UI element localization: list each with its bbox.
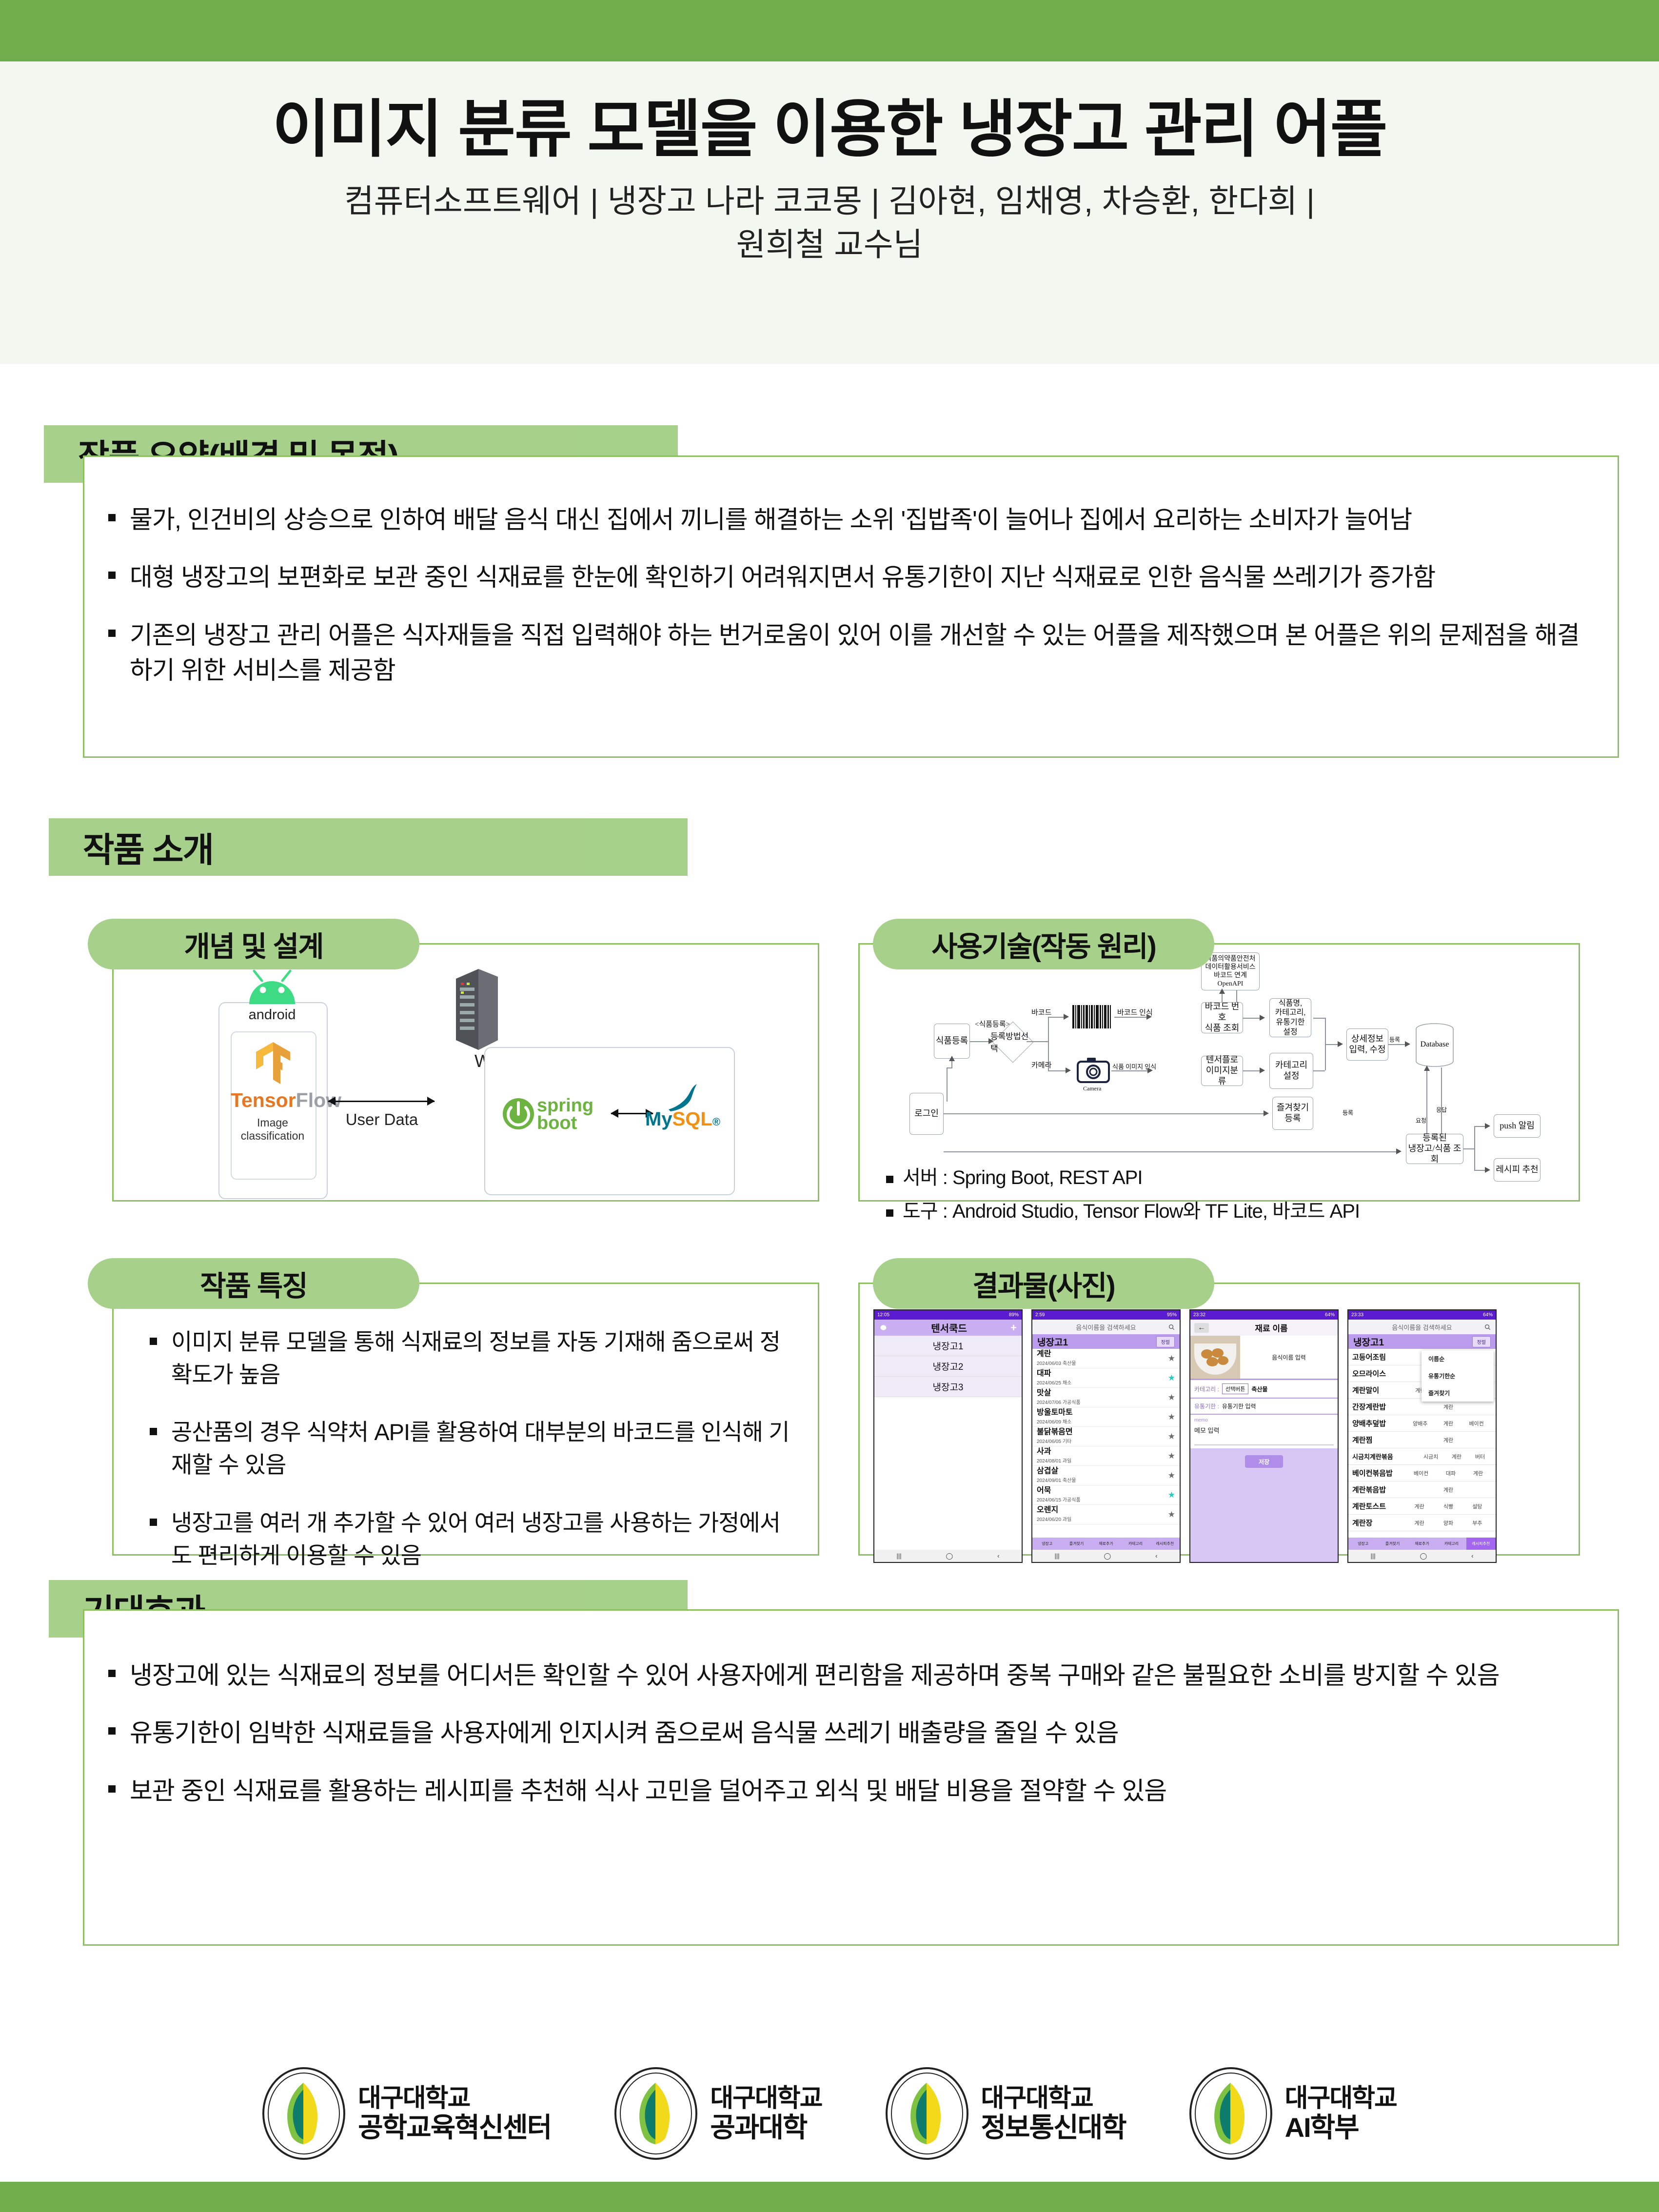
pill-features: 작품 특징 xyxy=(88,1258,419,1309)
logo-caption: 대구대학교 공과대학 xyxy=(710,2084,822,2143)
food-name: 대파 xyxy=(1037,1370,1071,1378)
android-robot-icon xyxy=(240,968,304,1006)
pill-concept: 개념 및 설계 xyxy=(88,919,419,969)
expiry-label: 유통기한 : xyxy=(1194,1402,1219,1410)
back-icon[interactable]: ‹ xyxy=(1155,1552,1157,1560)
ingredient: 계란 xyxy=(1415,1519,1424,1527)
dropdown-item-favorites[interactable]: 즐겨찾기 xyxy=(1422,1384,1494,1402)
architecture-diagram: android TensorFlow Image classification … xyxy=(114,945,821,1203)
category-row: 카테고리 : 선택버튼 축산물 xyxy=(1190,1380,1338,1399)
ingredient: 설탕 xyxy=(1472,1502,1482,1510)
recipe-item[interactable]: 베이컨볶음밥베이컨대파계란 xyxy=(1348,1465,1496,1481)
search-placeholder: 음식이름을 검색하세요 xyxy=(1076,1323,1136,1332)
food-name: 어묵 xyxy=(1037,1487,1081,1495)
flow-node-database: Database xyxy=(1414,1023,1456,1067)
tflite-line-2: 이미지분류 xyxy=(1203,1066,1242,1087)
logo-caption: 대구대학교 정보통신대학 xyxy=(981,2084,1126,2143)
user-data-arrow xyxy=(328,1101,434,1102)
features-heading: 작품 특징 xyxy=(200,1263,307,1304)
flow-edge-register-to-select xyxy=(970,1041,990,1042)
food-date: 2024/06/25 xyxy=(1037,1381,1061,1386)
food-photo xyxy=(1190,1336,1240,1379)
recipe-ingredients: 베이컨대파계란 xyxy=(1405,1469,1492,1477)
results-heading: 결과물(사진) xyxy=(972,1263,1114,1304)
status-time: 12:05 xyxy=(877,1312,889,1318)
system-nav-bar: ||| ◯ ‹ xyxy=(1348,1550,1496,1562)
status-time: 23:32 xyxy=(1193,1312,1205,1318)
food-category: 기타 xyxy=(1063,1439,1071,1444)
sort-button[interactable]: 정렬 xyxy=(1472,1336,1491,1347)
status-battery: 95% xyxy=(1167,1312,1177,1318)
recipe-ingredients: 계란 xyxy=(1405,1486,1492,1494)
food-category: 가공식품 xyxy=(1063,1498,1081,1503)
sort-button[interactable]: 정렬 xyxy=(1156,1336,1175,1347)
ingredient: 계란 xyxy=(1443,1420,1453,1427)
food-category: 채소 xyxy=(1063,1420,1071,1425)
food-item[interactable]: 오렌지2024/06/20 과일★ xyxy=(1032,1505,1180,1524)
ingredient: 계란 xyxy=(1452,1453,1461,1461)
gear-icon[interactable] xyxy=(879,1323,888,1332)
food-name-placeholder: 음식이름 입력 xyxy=(1272,1353,1306,1362)
nav-tab-recipe[interactable]: 레시피추천 xyxy=(1466,1538,1496,1550)
ingredient: 시금치 xyxy=(1423,1453,1438,1461)
daegu-university-seal-icon xyxy=(886,2067,968,2160)
food-category: 과일 xyxy=(1063,1517,1071,1522)
flow-edge-detail-to-db xyxy=(1388,1044,1407,1045)
features-bullet-1: 이미지 분류 모델을 통해 식재료의 정보를 자동 기재해 줌으로써 정확도가 … xyxy=(143,1326,791,1391)
system-flowchart: 식품의약품안전처 데이터활용서비스 바코드 연계 OpenAPI 식품등록 <식… xyxy=(860,945,1581,1149)
ingredient: 버터 xyxy=(1475,1453,1485,1461)
mysql-wordmark: MySQL® xyxy=(645,1108,720,1130)
food-item[interactable]: 방울토마토2024/06/09 채소★ xyxy=(1032,1407,1180,1427)
app-bar: 텐서쿡드 + xyxy=(874,1320,1022,1336)
ingredient: 양파 xyxy=(1443,1519,1453,1527)
flow-label-camera-path: 카메라 xyxy=(1031,1060,1051,1070)
flow-edge-login-to-favorite xyxy=(944,1113,1265,1114)
phone-screenshot-detail: 23:32 64% ← 재료 이름 음식이름 입력 xyxy=(1189,1309,1339,1563)
expected-bullet-3: 보관 중인 식재료를 활용하는 레시피를 추천해 식사 고민을 덜어주고 외식 … xyxy=(101,1774,1594,1809)
barcode-lookup-line-1: 바코드 번호 xyxy=(1203,1002,1242,1023)
detail-line-2: 입력, 수정 xyxy=(1349,1045,1385,1055)
home-icon[interactable]: ◯ xyxy=(946,1552,953,1560)
food-name-input[interactable]: 음식이름 입력 xyxy=(1240,1336,1338,1379)
logo-unit-ai-department: 대구대학교 AI학부 xyxy=(1189,2067,1397,2160)
results-panel: 12:05 89% 텐서쿡드 + 냉장고1 냉장고2 냉장고3 ||| ◯ ‹ xyxy=(858,1283,1580,1556)
fridge-item-2[interactable]: 냉장고2 xyxy=(874,1356,1022,1377)
category-select-button[interactable]: 선택버튼 xyxy=(1222,1383,1248,1394)
food-name: 불닭볶음면 xyxy=(1037,1428,1073,1437)
features-bullet-2: 공산품의 경우 식약처 API를 활용하여 대부분의 바코드를 인식해 기재할 … xyxy=(143,1416,791,1481)
flow-arrow-db-request xyxy=(1424,1066,1430,1071)
recipe-name: 계란장 xyxy=(1352,1518,1405,1528)
recipe-item[interactable]: 계란볶음밥계란 xyxy=(1348,1481,1496,1498)
recipe-name: 계란찜 xyxy=(1352,1435,1405,1445)
favorite-star-icon[interactable]: ★ xyxy=(1168,1510,1175,1520)
food-category: 과일 xyxy=(1063,1459,1071,1464)
status-bar: 12:05 89% xyxy=(874,1310,1022,1320)
setting-line-3: 유통기한 xyxy=(1276,1018,1305,1027)
food-item[interactable]: 사과2024/08/01 과일★ xyxy=(1032,1446,1180,1466)
nav-tab-add[interactable]: 재료추가 xyxy=(1091,1541,1121,1546)
flow-label-request: 요청 xyxy=(1416,1116,1426,1125)
egg-shape xyxy=(1218,1356,1228,1365)
summary-bullet-1: 물가, 인건비의 상승으로 인하여 배달 음식 대신 집에서 끼니를 해결하는 … xyxy=(101,502,1584,537)
flow-arrow-image-recognize xyxy=(1147,1067,1153,1073)
flow-edge-login-up-vert xyxy=(947,1067,948,1102)
flow-edge-to-camera xyxy=(1048,1070,1067,1071)
server-rack-icon xyxy=(450,968,504,1051)
favorite-star-icon[interactable]: ★ xyxy=(1168,1490,1175,1500)
flow-node-login: 로그인 xyxy=(909,1093,944,1135)
expected-bullet-1: 냉장고에 있는 식재료의 정보를 어디서든 확인할 수 있어 사용자에게 편리함… xyxy=(101,1658,1594,1693)
recipe-item[interactable]: 계란장계란양파부추 xyxy=(1348,1515,1496,1531)
flow-label-response: 응답 xyxy=(1436,1106,1447,1114)
nav-tab-recipe[interactable]: 레시피추천 xyxy=(1150,1541,1180,1546)
tensorflow-tensor-text: Tensor xyxy=(231,1089,296,1111)
nav-tab-add[interactable]: 재료추가 xyxy=(1407,1541,1437,1546)
plus-icon[interactable]: + xyxy=(1010,1322,1017,1334)
ingredient: 대파 xyxy=(1446,1469,1456,1477)
save-button[interactable]: 저장 xyxy=(1245,1455,1283,1468)
flow-label-favorite-register: 등록 xyxy=(1343,1108,1353,1117)
favorite-star-icon[interactable]: ★ xyxy=(1168,1393,1175,1402)
mysql-sql-text: SQL xyxy=(672,1108,712,1130)
search-bar[interactable]: 음식이름을 검색하세요 xyxy=(1348,1320,1496,1334)
flow-node-category-set: 카테고리 설정 xyxy=(1269,1053,1313,1089)
flow-arrow-merge-to-detail xyxy=(1338,1041,1343,1047)
fridge-name: 냉장고1 xyxy=(1353,1335,1384,1348)
page-title: 이미지 분류 모델을 이용한 냉장고 관리 어플 xyxy=(0,96,1659,164)
fridge-name: 냉장고1 xyxy=(1037,1335,1068,1348)
phone-screenshot-food-list: 2:59 95% 음식이름을 검색하세요 냉장고1 정렬 계란2024/06/0… xyxy=(1031,1309,1181,1563)
ingredient: 베이컨 xyxy=(1469,1420,1483,1427)
home-icon[interactable]: ◯ xyxy=(1420,1552,1427,1560)
nav-tab-fridge[interactable]: 냉장고 xyxy=(1348,1541,1378,1546)
detail-line-1: 상세정보 xyxy=(1351,1034,1383,1045)
flow-arrow-tflite-to-category xyxy=(1260,1067,1265,1073)
food-name: 맛살 xyxy=(1037,1389,1081,1398)
recipe-name: 계란볶음밥 xyxy=(1352,1484,1405,1495)
status-battery: 89% xyxy=(1009,1312,1019,1318)
food-list: 계란2024/06/03 축산물★ 대파2024/06/25 채소★ 맛살202… xyxy=(1032,1349,1180,1524)
seal-emblem xyxy=(1206,2082,1255,2145)
barcode-lookup-line-2: 식품 조회 xyxy=(1205,1023,1240,1034)
logo-line-2: AI학부 xyxy=(1285,2113,1397,2143)
food-category: 축산물 xyxy=(1063,1478,1076,1483)
intro-heading: 작품 소개 xyxy=(49,823,213,872)
back-arrow-icon[interactable]: ← xyxy=(1194,1323,1209,1333)
food-date: 2024/06/03 xyxy=(1037,1361,1061,1366)
spring-text: spring xyxy=(537,1097,593,1114)
food-name: 계란 xyxy=(1037,1350,1076,1359)
flow-edge-login-to-query xyxy=(944,1151,1397,1152)
flow-arrow-detail-to-db xyxy=(1405,1041,1410,1047)
logo-line-1: 대구대학교 xyxy=(710,2084,822,2113)
screenshot-gallery: 12:05 89% 텐서쿡드 + 냉장고1 냉장고2 냉장고3 ||| ◯ ‹ xyxy=(873,1309,1497,1563)
flow-edge-branch-stem xyxy=(1027,1041,1048,1042)
recents-icon[interactable]: ||| xyxy=(1054,1552,1059,1560)
flow-arrow-openapi-up xyxy=(1219,988,1225,994)
memo-placeholder: 메모 입력 xyxy=(1194,1425,1334,1445)
favorite-star-icon[interactable]: ★ xyxy=(1168,1412,1175,1422)
features-bullets: 이미지 분류 모델을 통해 식재료의 정보를 자동 기재해 줌으로써 정확도가 … xyxy=(143,1326,791,1594)
recipe-name: 계란말이 xyxy=(1352,1385,1405,1395)
dropdown-item-name-order[interactable]: 이름순 xyxy=(1422,1350,1494,1367)
recipe-name: 고등어조림 xyxy=(1352,1352,1405,1362)
detail-title: 재료 이름 xyxy=(1209,1322,1334,1334)
summary-bullets: 물가, 인건비의 상승으로 인하여 배달 음식 대신 집에서 끼니를 해결하는 … xyxy=(101,502,1584,711)
concept-heading: 개념 및 설계 xyxy=(184,924,323,965)
home-icon[interactable]: ◯ xyxy=(1104,1552,1111,1560)
logo-line-2: 공학교육혁신센터 xyxy=(358,2113,551,2143)
food-date: 2024/06/20 xyxy=(1037,1517,1061,1522)
favorite-star-icon[interactable]: ★ xyxy=(1168,1432,1175,1442)
category-value: 축산물 xyxy=(1251,1385,1267,1393)
sort-dropdown-menu[interactable]: 이름순 유통기한순 즐겨찾기 xyxy=(1422,1350,1494,1402)
ingredient: 계란 xyxy=(1473,1469,1483,1477)
status-time: 23:33 xyxy=(1351,1312,1363,1318)
system-nav-bar: ||| ◯ ‹ xyxy=(874,1550,1022,1562)
status-bar: 23:33 64% xyxy=(1348,1310,1496,1320)
flow-arrow-login-to-favorite xyxy=(1264,1110,1269,1116)
food-date: 2024/07/06 xyxy=(1037,1400,1061,1405)
logo-line-1: 대구대학교 xyxy=(1285,2084,1397,2113)
ingredient: 양배추 xyxy=(1413,1420,1427,1427)
category-label: 카테고리 : xyxy=(1194,1385,1219,1393)
food-item[interactable]: 대파2024/06/25 채소★ xyxy=(1032,1368,1180,1388)
tflite-line-1: 텐서플로 xyxy=(1206,1055,1238,1066)
recents-icon[interactable]: ||| xyxy=(896,1552,901,1560)
flow-edge-setting-merge xyxy=(1313,1018,1325,1019)
mysql-my-text: My xyxy=(645,1108,672,1130)
summary-bullet-2: 대형 냉장고의 보편화로 보관 중인 식재료를 한눈에 확인하기 어려워지면서 … xyxy=(101,560,1584,595)
flow-node-favorite: 즐겨찾기 등록 xyxy=(1272,1097,1313,1130)
food-date: 2024/06/05 xyxy=(1037,1439,1061,1444)
seal-emblem xyxy=(631,2082,680,2145)
android-label: android xyxy=(218,1007,326,1023)
logo-unit-engineering-college: 대구대학교 공과대학 xyxy=(614,2067,822,2160)
logo-line-1: 대구대학교 xyxy=(981,2084,1126,2113)
food-item[interactable]: 삼겹살2024/09/01 축산물★ xyxy=(1032,1466,1180,1485)
expected-bullets: 냉장고에 있는 식재료의 정보를 어디서든 확인할 수 있어 사용자에게 편리함… xyxy=(101,1658,1594,1831)
ingredient: 계란 xyxy=(1443,1403,1453,1411)
dropdown-item-expiry-order[interactable]: 유통기한순 xyxy=(1422,1367,1494,1384)
food-category: 채소 xyxy=(1063,1381,1071,1386)
app-title: 텐서쿡드 xyxy=(888,1321,1010,1335)
bottom-accent-bar xyxy=(0,2182,1659,2212)
page-subtitle: 컴퓨터소프트웨어 | 냉장고 나라 코코몽 | 김아현, 임채영, 차승환, 한… xyxy=(0,179,1659,266)
recipe-ingredients: 계란 xyxy=(1405,1436,1492,1444)
status-battery: 64% xyxy=(1325,1312,1335,1318)
recipe-name: 양배추덮밥 xyxy=(1352,1418,1405,1428)
flow-edge-category-merge xyxy=(1313,1070,1325,1071)
flow-edge-lookup-to-setting xyxy=(1243,1018,1262,1019)
database-label: Database xyxy=(1414,1040,1456,1049)
food-date: 2024/06/15 xyxy=(1037,1498,1061,1503)
food-item[interactable]: 불닭볶음면2024/06/05 기타★ xyxy=(1032,1427,1180,1446)
phone-screenshot-recipes: 23:33 64% 음식이름을 검색하세요 냉장고1 정렬 이름순 유통기한순 … xyxy=(1347,1309,1497,1563)
seal-emblem xyxy=(902,2082,951,2145)
flow-edge-db-request xyxy=(1426,1067,1427,1136)
flow-label-barcode-path: 바코드 xyxy=(1031,1007,1051,1017)
status-battery: 64% xyxy=(1483,1312,1493,1318)
ingredient: 계란 xyxy=(1415,1502,1424,1510)
fridge-header: 냉장고1 정렬 xyxy=(1348,1334,1496,1349)
recipe-name: 시금치계란볶음 xyxy=(1352,1452,1417,1461)
logo-line-2: 공과대학 xyxy=(710,2113,822,2143)
flow-arrow-to-barcode xyxy=(1064,1014,1069,1020)
status-bar: 2:59 95% xyxy=(1032,1310,1180,1320)
recipe-name: 베이컨볶음밥 xyxy=(1352,1468,1405,1478)
setting-line-2: 카테고리, xyxy=(1275,1008,1306,1018)
search-icon[interactable] xyxy=(1484,1324,1491,1330)
fridge-item-3[interactable]: 냉장고3 xyxy=(874,1377,1022,1397)
logo-caption: 대구대학교 공학교육혁신센터 xyxy=(358,2084,551,2143)
nav-tab-category[interactable]: 카테고리 xyxy=(1121,1541,1150,1546)
fridge-header: 냉장고1 정렬 xyxy=(1032,1334,1180,1349)
status-time: 2:59 xyxy=(1035,1312,1045,1318)
daegu-university-seal-icon xyxy=(614,2067,697,2160)
food-name: 삼겹살 xyxy=(1037,1467,1076,1476)
mysql-dolphin-icon xyxy=(665,1082,700,1112)
recipe-name: 계란토스트 xyxy=(1352,1501,1405,1511)
back-icon[interactable]: ‹ xyxy=(997,1552,999,1560)
ingredient: 계란 xyxy=(1443,1486,1453,1494)
features-bullet-3: 냉장고를 여러 개 추가할 수 있어 여러 냉장고를 사용하는 가정에서도 편리… xyxy=(143,1507,791,1572)
nav-tab-favorites[interactable]: 즐겨찾기 xyxy=(1062,1541,1091,1546)
logo-unit-engineering-center: 대구대학교 공학교육혁신센터 xyxy=(262,2067,551,2160)
openapi-line-1: 식품의약품안전처 xyxy=(1205,955,1255,963)
search-placeholder: 음식이름을 검색하세요 xyxy=(1392,1323,1452,1332)
food-item[interactable]: 어묵2024/06/15 가공식품★ xyxy=(1032,1485,1180,1505)
daegu-university-seal-icon xyxy=(1189,2067,1272,2160)
setting-line-1: 식품명, xyxy=(1279,999,1302,1008)
recipe-ingredients: 양배추계란베이컨 xyxy=(1405,1420,1492,1427)
food-date: 2024/08/01 xyxy=(1037,1459,1061,1464)
flow-edge-to-barcode xyxy=(1048,1017,1066,1018)
recipe-ingredients: 시금치계란버터 xyxy=(1417,1453,1492,1461)
food-date: 2024/06/09 xyxy=(1037,1420,1061,1425)
flow-node-register-food: 식품등록 xyxy=(934,1024,970,1059)
tensorflow-logo-icon xyxy=(254,1041,292,1085)
summary-bullet-3: 기존의 냉장고 관리 어플은 식자재들을 직접 입력해야 하는 번거로움이 있어… xyxy=(101,618,1584,689)
nav-tab-favorites[interactable]: 즐겨찾기 xyxy=(1378,1541,1407,1546)
food-name: 사과 xyxy=(1037,1448,1071,1456)
concept-panel: android TensorFlow Image classification … xyxy=(112,943,819,1202)
fridge-item-1[interactable]: 냉장고1 xyxy=(874,1336,1022,1356)
logo-caption: 대구대학교 AI학부 xyxy=(1285,2084,1397,2143)
favorite-star-icon[interactable]: ★ xyxy=(1168,1373,1175,1383)
spring-boot-wordmark: spring boot xyxy=(537,1097,593,1132)
poster-root: 이미지 분류 모델을 이용한 냉장고 관리 어플 컴퓨터소프트웨어 | 냉장고 … xyxy=(0,0,1659,2212)
tech-bullet-1: 서버 : Spring Boot, REST API xyxy=(879,1164,1552,1192)
tensorflow-wordmark: TensorFlow xyxy=(231,1089,315,1112)
system-nav-bar: ||| ◯ ‹ xyxy=(1032,1550,1180,1562)
recipe-ingredients: 계란양파부추 xyxy=(1405,1519,1492,1527)
food-name: 방울토마토 xyxy=(1037,1409,1073,1417)
recipe-item[interactable]: 양배추덮밥양배추계란베이컨 xyxy=(1348,1415,1496,1432)
bottom-nav: 냉장고 즐겨찾기 재료추가 카테고리 레시피추천 xyxy=(1032,1538,1180,1550)
pill-tech: 사용기술(작동 원리) xyxy=(873,919,1214,969)
flow-edge-tflite-to-category xyxy=(1243,1070,1262,1071)
user-data-label: User Data xyxy=(323,1110,440,1129)
barcode-icon xyxy=(1072,1005,1113,1028)
flow-edge-login-up-h xyxy=(947,1067,951,1068)
logo-line-2: 정보통신대학 xyxy=(981,2113,1126,2143)
bottom-nav: 냉장고 즐겨찾기 재료추가 카테고리 레시피추천 xyxy=(1348,1538,1496,1550)
intro-heading-tail xyxy=(585,818,688,876)
subtitle-line-1: 컴퓨터소프트웨어 | 냉장고 나라 코코몽 | 김아현, 임채영, 차승환, 한… xyxy=(0,179,1659,223)
flow-arrow-barcode-recognize xyxy=(1146,1014,1152,1020)
egg-shape xyxy=(1206,1357,1218,1366)
phone-screenshot-fridge-list: 12:05 89% 텐서쿡드 + 냉장고1 냉장고2 냉장고3 ||| ◯ ‹ xyxy=(873,1309,1023,1563)
tech-bullets: 서버 : Spring Boot, REST API 도구 : Android … xyxy=(879,1164,1552,1228)
flow-node-setting: 식품명, 카테고리, 유통기한 설정 xyxy=(1269,998,1311,1037)
recipe-ingredients: 계란식빵설탕 xyxy=(1405,1502,1492,1510)
daegu-university-seal-icon xyxy=(262,2067,345,2160)
memo-label: memo xyxy=(1194,1418,1334,1423)
nav-tab-fridge[interactable]: 냉장고 xyxy=(1032,1541,1062,1546)
recipe-item[interactable]: 계란토스트계란식빵설탕 xyxy=(1348,1498,1496,1515)
flow-arrow-lookup-to-setting xyxy=(1260,1015,1265,1021)
mysql-dot-text: ® xyxy=(712,1116,720,1128)
memo-section[interactable]: memo 메모 입력 xyxy=(1190,1415,1338,1448)
camera-icon xyxy=(1076,1056,1110,1084)
expiry-row[interactable]: 유통기한 : 유통기한 입력 xyxy=(1190,1399,1338,1415)
openapi-line-3: 바코드 연계 xyxy=(1214,971,1247,980)
section-header-intro: 작품 소개 xyxy=(49,818,688,876)
detail-app-bar: ← 재료 이름 xyxy=(1190,1320,1338,1336)
search-bar[interactable]: 음식이름을 검색하세요 xyxy=(1032,1320,1180,1334)
flow-node-detail-input: 상세정보 입력, 수정 xyxy=(1346,1028,1388,1061)
logo-line-1: 대구대학교 xyxy=(358,2084,551,2113)
openapi-line-4: OpenAPI xyxy=(1218,980,1244,988)
food-item[interactable]: 계란2024/06/03 축산물★ xyxy=(1032,1349,1180,1368)
recents-icon[interactable]: ||| xyxy=(1370,1552,1375,1560)
nav-tab-category[interactable]: 카테고리 xyxy=(1437,1541,1466,1546)
tech-bullet-2: 도구 : Android Studio, Tensor Flow와 TF Lit… xyxy=(879,1198,1552,1225)
favorite-star-icon[interactable]: ★ xyxy=(1168,1471,1175,1481)
favorite-star-icon[interactable]: ★ xyxy=(1168,1451,1175,1461)
flow-label-db-register: 등록 xyxy=(1389,1035,1400,1044)
food-name: 오렌지 xyxy=(1037,1506,1071,1515)
food-date: 2024/09/01 xyxy=(1037,1478,1061,1483)
recipe-name: 간장계란밥 xyxy=(1352,1402,1405,1412)
tech-panel: 식품의약품안전처 데이터활용서비스 바코드 연계 OpenAPI 식품등록 <식… xyxy=(858,943,1580,1202)
search-icon[interactable] xyxy=(1168,1324,1175,1330)
back-icon[interactable]: ‹ xyxy=(1471,1552,1473,1560)
recipe-item[interactable]: 계란찜계란 xyxy=(1348,1432,1496,1448)
favorite-star-icon[interactable]: ★ xyxy=(1168,1354,1175,1363)
food-item[interactable]: 맛살2024/07/06 가공식품★ xyxy=(1032,1388,1180,1407)
ingredient: 베이컨 xyxy=(1414,1469,1428,1477)
camera-caption: Camera xyxy=(1083,1085,1101,1092)
ingredient: 식빵 xyxy=(1443,1502,1453,1510)
features-panel: 이미지 분류 모델을 통해 식재료의 정보를 자동 기재해 줌으로써 정확도가 … xyxy=(112,1283,819,1556)
boot-text: boot xyxy=(537,1114,593,1132)
spring-boot-logo-icon xyxy=(501,1097,535,1131)
flow-arrow-to-camera xyxy=(1066,1067,1071,1073)
subtitle-line-2: 원희철 교수님 xyxy=(0,223,1659,266)
ingredient: 부추 xyxy=(1472,1519,1482,1527)
food-category: 가공식품 xyxy=(1063,1400,1081,1405)
logo-unit-ict-college: 대구대학교 정보통신대학 xyxy=(886,2067,1126,2160)
recipe-item[interactable]: 시금치계란볶음시금치계란버터 xyxy=(1348,1448,1496,1465)
recipe-name: 오므라이스 xyxy=(1352,1368,1405,1379)
ingredient: 계란 xyxy=(1443,1436,1453,1444)
flow-arrow-login-to-register xyxy=(949,1056,955,1061)
flow-edge-db-response xyxy=(1441,1067,1442,1137)
